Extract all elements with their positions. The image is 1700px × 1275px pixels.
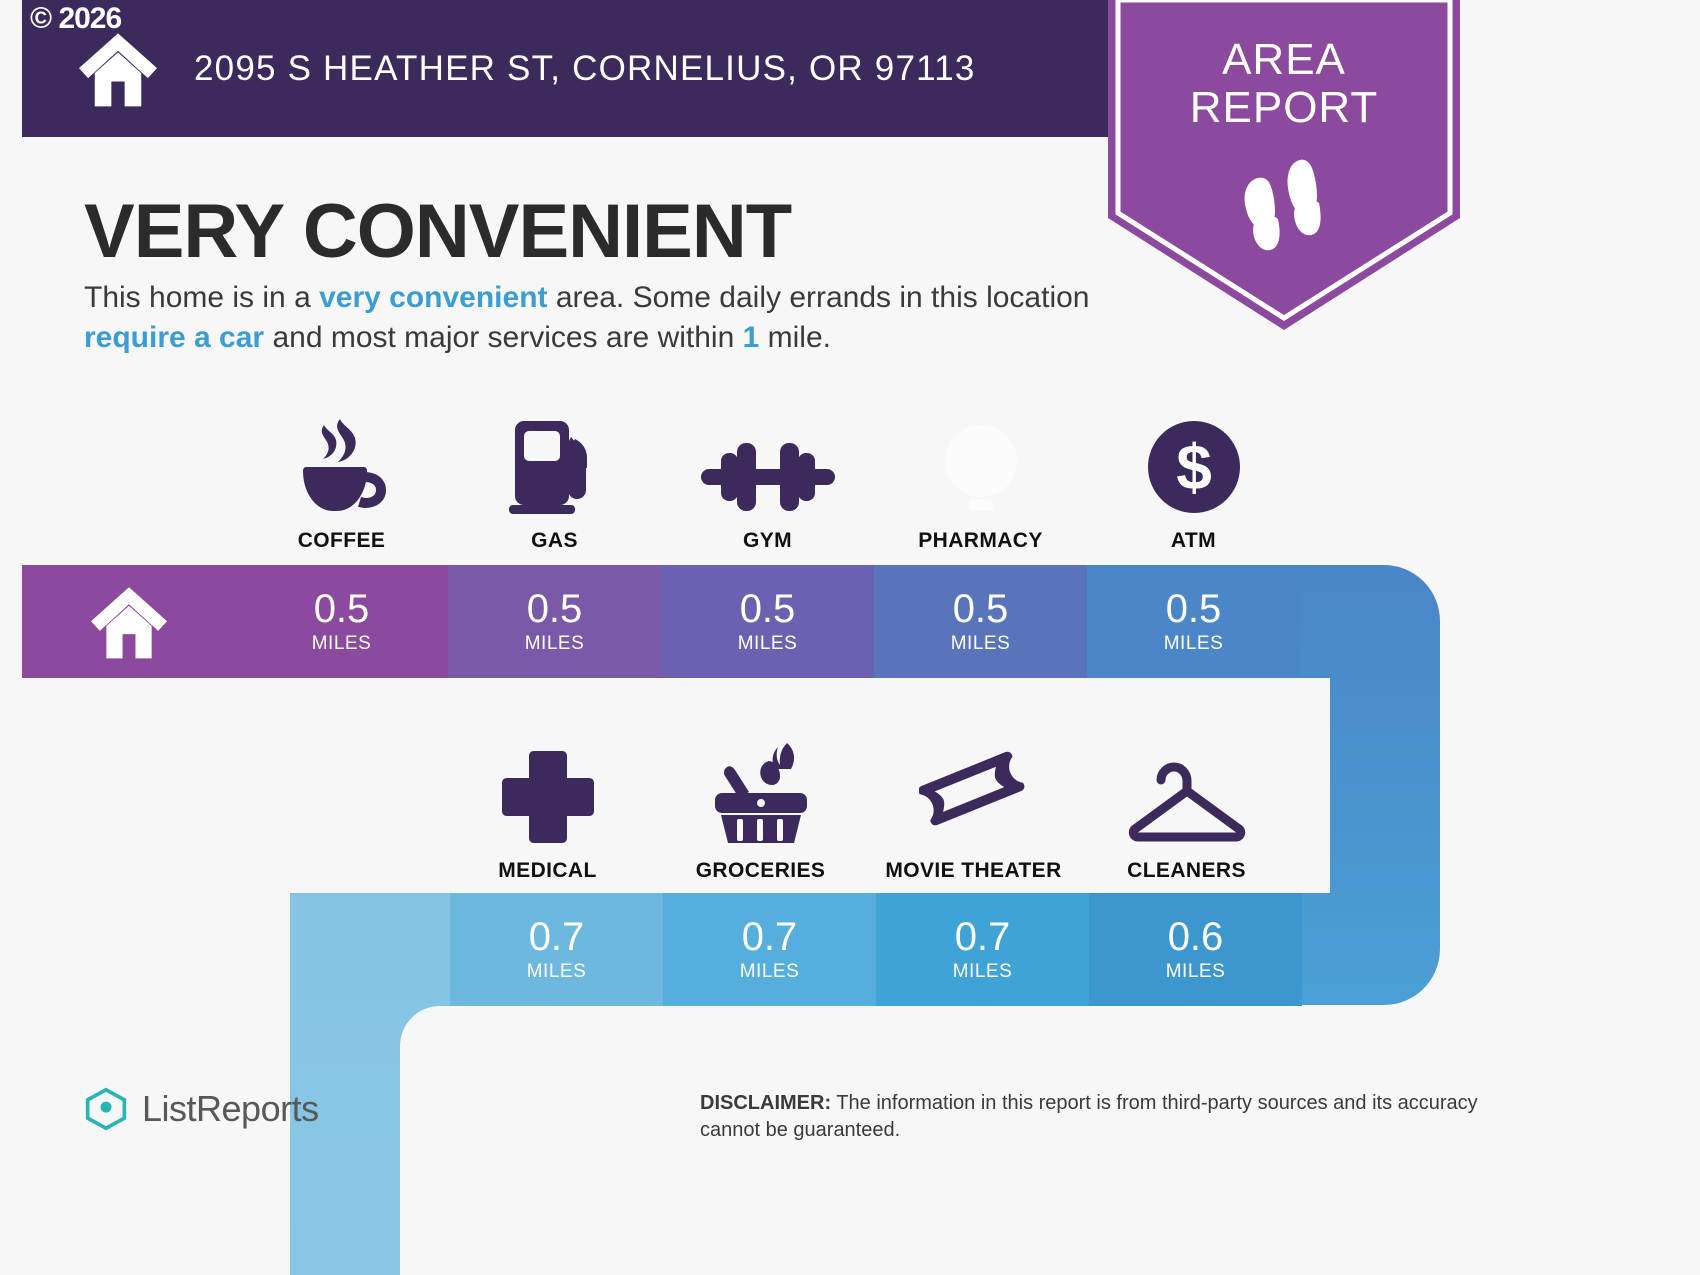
category-column-cleaners: CLEANERS [1080,735,1293,883]
distance-cell-cleaners: 0.6 MILES [1089,893,1302,1006]
distance-cell-pharmacy: 0.5 MILES [874,565,1087,678]
category-column-pharmacy: PHARMACY [874,405,1087,553]
summary-highlight-1: very convenient [319,281,547,314]
category-column-gas: GAS [448,405,661,553]
distance-value: 0.5 [314,589,370,629]
distance-unit: MILES [525,633,585,655]
track-curve-right-inner [1278,678,1330,893]
category-label: MEDICAL [441,859,654,883]
copyright-label: © 2026 [30,2,121,36]
distance-cell-gas: 0.5 MILES [448,565,661,678]
distance-cell-movie-theater: 0.7 MILES [876,893,1089,1006]
home-origin-cell [22,565,235,678]
distance-unit: MILES [953,961,1013,983]
badge-label: AREA REPORT [1108,36,1460,131]
badge-line-1: AREA [1222,35,1346,84]
summary-part-1: This home is in a [84,281,319,314]
logo-text: ListReports [142,1088,319,1130]
disclaimer-label: DISCLAIMER: [700,1092,831,1114]
clothes-hanger-icon [1080,735,1293,845]
gas-pump-icon [448,405,661,515]
category-label: MOVIE THEATER [867,859,1080,883]
grocery-basket-icon [654,735,867,845]
dumbbell-icon [661,405,874,515]
svg-text:$: $ [1176,431,1212,503]
badge-line-2: REPORT [1190,83,1379,132]
home-icon [87,584,171,660]
disclaimer: DISCLAIMER: The information in this repo… [700,1090,1500,1144]
distance-value: 0.7 [529,917,585,957]
summary-highlight-2: require a car [84,321,264,354]
header-bar: 2095 S HEATHER ST, CORNELIUS, OR 97113 [22,0,1272,137]
category-column-atm: $ ATM [1087,405,1300,553]
movie-ticket-icon [867,735,1080,845]
distance-cell-groceries: 0.7 MILES [663,893,876,1006]
distance-cell-atm: 0.5 MILES [1087,565,1300,678]
distance-track-row-1: 0.5 MILES 0.5 MILES 0.5 MILES 0.5 MILES … [22,565,1440,678]
category-label: CLEANERS [1080,859,1293,883]
distance-cell-medical: 0.7 MILES [450,893,663,1006]
dollar-circle-icon: $ [1087,405,1300,515]
category-column-gym: GYM [661,405,874,553]
distance-track-row-2: 0.7 MILES 0.7 MILES 0.7 MILES 0.6 MILES [290,893,1440,1006]
distance-value: 0.6 [1168,917,1224,957]
distance-unit: MILES [740,961,800,983]
distance-value: 0.5 [527,589,583,629]
area-report-badge: AREA REPORT [1108,0,1460,330]
category-label: COFFEE [235,529,448,553]
page-title: VERY CONVENIENT [84,188,791,275]
summary-highlight-3: 1 [743,321,760,354]
home-icon [76,30,160,108]
category-label: PHARMACY [874,529,1087,553]
coffee-cup-icon [235,405,448,515]
summary-part-2: area. Some daily errands in this locatio… [548,281,1090,314]
category-column-coffee: COFFEE [235,405,448,553]
distance-value: 0.7 [955,917,1011,957]
distance-unit: MILES [1164,633,1224,655]
distance-unit: MILES [951,633,1011,655]
category-column-groceries: GROCERIES [654,735,867,883]
track-lead-segment [290,893,450,1006]
distance-unit: MILES [738,633,798,655]
property-address: 2095 S HEATHER ST, CORNELIUS, OR 97113 [194,49,976,89]
distance-unit: MILES [312,633,372,655]
category-label: GYM [661,529,874,553]
distance-cell-gym: 0.5 MILES [661,565,874,678]
category-column-movie-theater: MOVIE THEATER [867,735,1080,883]
distance-unit: MILES [527,961,587,983]
category-label: GAS [448,529,661,553]
distance-value: 0.5 [1166,589,1222,629]
listreports-logo: ListReports [84,1087,319,1131]
distance-value: 0.7 [742,917,798,957]
listreports-logo-icon [84,1087,128,1131]
distance-value: 0.5 [953,589,1009,629]
summary-part-3: and most major services are within [264,321,743,354]
category-label: ATM [1087,529,1300,553]
category-column-medical: MEDICAL [441,735,654,883]
pharmacy-icon [874,405,1087,515]
distance-value: 0.5 [740,589,796,629]
distance-unit: MILES [1166,961,1226,983]
category-label: GROCERIES [654,859,867,883]
distance-cell-coffee: 0.5 MILES [235,565,448,678]
summary-part-4: mile. [759,321,831,354]
summary-text: This home is in a very convenient area. … [84,278,1094,358]
medical-cross-icon [441,735,654,845]
